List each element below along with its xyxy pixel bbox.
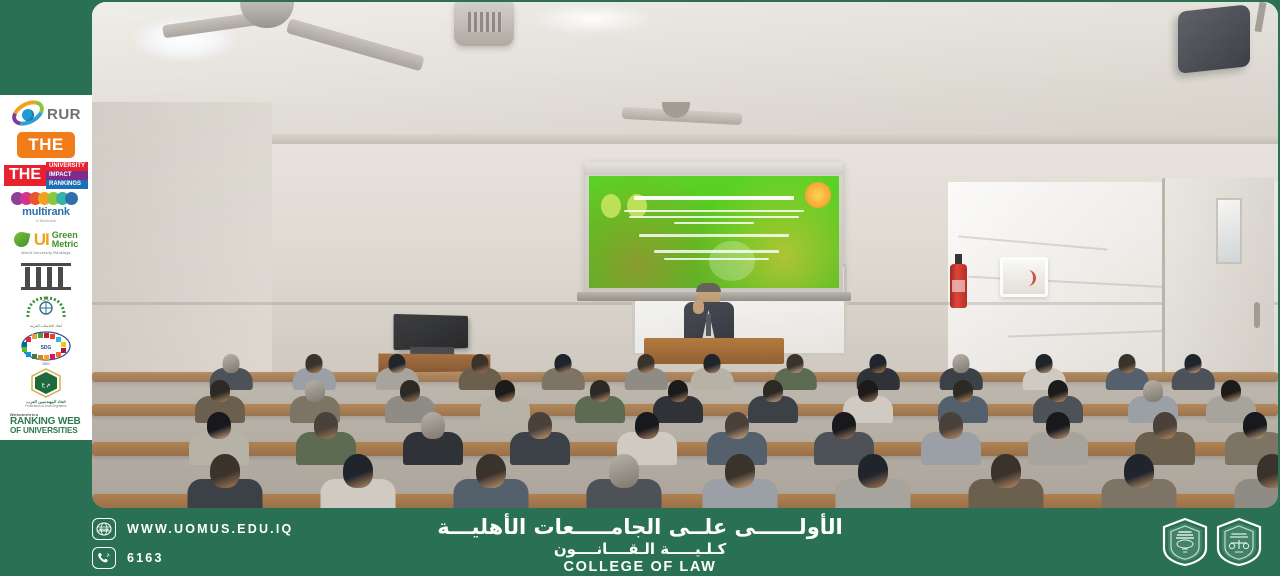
audience-head [472, 354, 489, 373]
audience-head [1119, 354, 1136, 373]
webometrics-line-2: OF UNIVERSITIES [10, 427, 78, 435]
pillars-emblem-logo [2, 261, 90, 291]
audience-member [967, 454, 1045, 508]
presenter-tie [706, 314, 711, 336]
audience-head [555, 354, 572, 373]
rur-ranking-logo: RUR [2, 99, 90, 130]
arab-engineers-caption-en: Federation of Arab Engineers [25, 404, 66, 408]
multirank-caption: U-Multirank [36, 219, 56, 223]
audience-member [319, 454, 397, 508]
door-window [1216, 198, 1242, 264]
the-label: THE [17, 132, 75, 158]
greenmetric-word-2: Metric [52, 240, 79, 249]
audience-head [210, 454, 240, 488]
screen-top-bar [585, 162, 843, 175]
audience-head [939, 412, 963, 439]
audience-head [1143, 380, 1163, 402]
audience-head [668, 380, 688, 402]
desk-monitor [394, 314, 468, 350]
audience-head [638, 354, 655, 373]
audience-head [609, 454, 639, 488]
wreath-icon: عربية [23, 295, 69, 323]
audience-head [389, 354, 406, 373]
svg-text:SDG: SDG [41, 345, 52, 351]
door-handle[interactable] [1254, 302, 1260, 328]
page-footer: www WWW.UOMUS.EDU.IQ 6163 الأولــــــى ع… [0, 508, 1280, 576]
tagline-arabic: الأولــــــى علــى الجامـــــعات الأهليـ… [0, 516, 1280, 540]
projector-screen [585, 162, 843, 294]
audience-head [832, 412, 856, 439]
pillars-icon [19, 261, 73, 291]
audience-head [210, 380, 230, 402]
college-name-english: COLLEGE OF LAW [0, 559, 1280, 575]
audience-member [834, 454, 912, 508]
sdg-caption: SDG [42, 362, 49, 366]
u-multirank-logo: multirank U-Multirank [2, 192, 90, 223]
sustainable-development-goals-logo: SDG SDG [2, 331, 90, 366]
greenmetric-prefix: UI [34, 230, 49, 250]
slide-header-line [634, 196, 794, 200]
audience-head [305, 380, 325, 402]
audience-member [186, 454, 264, 508]
the-impact-lines: UNIVERSITY IMPACT RANKINGS [46, 162, 88, 189]
audience-head [725, 454, 755, 488]
projector-slide [589, 176, 839, 288]
audience-head [858, 380, 878, 402]
rur-label: RUR [47, 106, 81, 123]
leaf-icon [12, 231, 30, 249]
times-higher-education-logo: THE [2, 132, 90, 159]
association-of-arab-universities-logo: عربية اتحاد الجامعات العربية [2, 293, 90, 329]
audience-head [343, 454, 373, 488]
audience-head [1257, 454, 1278, 488]
sdg-ring-icon: SDG [20, 331, 72, 361]
the-impact-label: THE [4, 165, 46, 186]
impact-line-3: RANKINGS [46, 180, 88, 189]
footer-center-block: الأولــــــى علــى الجامـــــعات الأهليـ… [0, 516, 1280, 575]
university-of-al-mustaqbal-emblem [1162, 518, 1208, 566]
impact-line-1: UNIVERSITY [46, 162, 88, 171]
audience-head [991, 454, 1021, 488]
fire-extinguisher-label [952, 280, 965, 292]
audience-member [585, 454, 663, 508]
greenmetric-words: Green Metric [52, 231, 79, 249]
multirank-label: multirank [22, 206, 70, 218]
greenmetric-caption: World University Rankings [21, 251, 71, 255]
arab-engineers-badge-icon: م ع [27, 368, 65, 398]
audience-member [1100, 454, 1178, 508]
audience-head [858, 454, 888, 488]
footer-emblems [1162, 518, 1262, 566]
audience-head [314, 412, 338, 439]
audience-head [953, 354, 970, 373]
audience-head [421, 412, 445, 439]
audience-head [306, 354, 323, 373]
audience-head [476, 454, 506, 488]
audience-head [725, 412, 749, 439]
university-rankings-logo-strip: RUR THE THE UNIVERSITY IMPACT RANKINGS [0, 95, 92, 440]
college-of-law-emblem [1216, 518, 1262, 566]
lecture-hall-event-photo [92, 2, 1278, 508]
audience-head [1243, 412, 1267, 439]
college-name-arabic: كـلـيـــــة الـقــــانــــون [0, 540, 1280, 558]
audience-head [1153, 412, 1177, 439]
audience-head [1046, 412, 1070, 439]
wall-mounted-speaker [1178, 4, 1250, 74]
arab-universities-caption: اتحاد الجامعات العربية [30, 324, 62, 328]
rur-eye-icon [11, 102, 45, 126]
ui-greenmetric-logo: UI Green Metric World University Ranking… [2, 225, 90, 259]
wall-mounted-clock-panel [1000, 257, 1048, 297]
svg-text:عربية: عربية [42, 298, 50, 302]
presenter-hair [696, 283, 721, 292]
audience-head [207, 412, 231, 439]
ceiling-light-secondary [532, 4, 652, 34]
webometrics-ranking-web-logo: Webometrics RANKING WEB OF UNIVERSITIES [2, 410, 90, 436]
audience-head [400, 380, 420, 402]
multirank-dots-icon [15, 192, 78, 205]
audience-head [635, 412, 659, 439]
audience-member [1233, 454, 1278, 508]
presenter-hand [693, 300, 704, 314]
svg-text:م ع: م ع [42, 382, 51, 388]
impact-line-2: IMPACT [46, 171, 88, 180]
audience-head [953, 380, 973, 402]
multirank-wordmark: multirank [22, 206, 70, 218]
audience-head [590, 380, 610, 402]
audience-head [704, 354, 721, 373]
audience-head [1048, 380, 1068, 402]
federation-of-arab-engineers-logo: م ع اتحاد المهندسين العرب Federation of … [2, 368, 90, 408]
greenmetric-mark: UI Green Metric [14, 230, 79, 250]
audience-head [870, 354, 887, 373]
audience-head [1036, 354, 1053, 373]
audience-head [1185, 354, 1202, 373]
photo-canvas [92, 2, 1278, 508]
audience-head [495, 380, 515, 402]
audience-head [1124, 454, 1154, 488]
the-university-impact-rankings-logo: THE UNIVERSITY IMPACT RANKINGS [2, 161, 90, 190]
audience-member [452, 454, 530, 508]
page-root: RUR THE THE UNIVERSITY IMPACT RANKINGS [0, 0, 1280, 576]
audience-member [701, 454, 779, 508]
audience-head [787, 354, 804, 373]
ceiling-projector [454, 2, 514, 46]
audience-head [763, 380, 783, 402]
audience-head [1221, 380, 1241, 402]
audience-head [528, 412, 552, 439]
audience-head [223, 354, 240, 373]
